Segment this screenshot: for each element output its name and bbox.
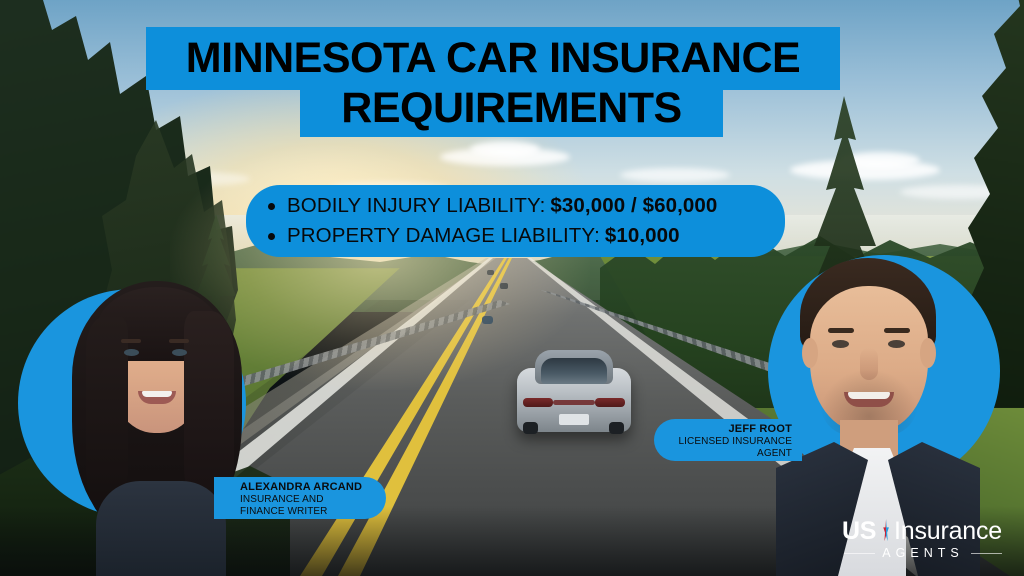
logo-us-text: US (842, 517, 876, 546)
car-license-plate (559, 414, 589, 425)
bullet-value: $30,000 / $60,000 (550, 191, 717, 221)
person-role-line-2: AGENT (674, 448, 792, 460)
eyebrow-left (828, 328, 854, 333)
distant-car (487, 270, 494, 275)
eye-right (888, 340, 905, 348)
person-name: JEFF ROOT (674, 423, 792, 436)
brand-logo: US Insurance AGENTS (842, 517, 1002, 563)
eyebrow-right (169, 339, 189, 343)
logo-agents-text: AGENTS (882, 546, 963, 560)
bullet-dot-icon (268, 203, 275, 210)
car-wheel-left (523, 422, 538, 434)
bullet-value: $10,000 (605, 221, 680, 251)
ear-right (920, 338, 936, 368)
bullet-label: BODILY INJURY LIABILITY: (287, 191, 545, 221)
person-role-line-1: INSURANCE AND (240, 494, 372, 506)
star-icon (883, 519, 889, 543)
list-item: BODILY INJURY LIABILITY: $30,000 / $60,0… (246, 191, 785, 221)
logo-subline: AGENTS (842, 546, 1002, 560)
infographic-banner: MINNESOTA CAR INSURANCE REQUIREMENTS BOD… (0, 0, 1024, 576)
name-tag-jeff: JEFF ROOT LICENSED INSURANCE AGENT (654, 419, 802, 461)
avatar-alexandra-arcand (62, 269, 252, 576)
person-name: ALEXANDRA ARCAND (240, 481, 372, 494)
eye-left (832, 340, 849, 348)
eyebrow-left (121, 339, 141, 343)
eye-left (124, 349, 139, 356)
distant-car (482, 316, 493, 324)
name-tag-alexandra: ALEXANDRA ARCAND INSURANCE AND FINANCE W… (214, 477, 386, 519)
logo-rule-left (844, 553, 875, 554)
car-rear-window (541, 358, 607, 384)
ear-left (802, 338, 818, 368)
eye-right (172, 349, 187, 356)
car-wheel-right (609, 422, 624, 434)
shirt (96, 481, 226, 576)
car-taillight-right (595, 398, 625, 407)
list-item: PROPERTY DAMAGE LIABILITY: $10,000 (246, 221, 785, 251)
bullet-label: PROPERTY DAMAGE LIABILITY: (287, 221, 600, 251)
logo-wordmark: US Insurance (842, 517, 1002, 545)
star-right-half (883, 519, 889, 543)
requirements-list: BODILY INJURY LIABILITY: $30,000 / $60,0… (246, 185, 785, 257)
cloud (470, 141, 540, 157)
silver-sedan (513, 350, 635, 436)
bullet-dot-icon (268, 233, 275, 240)
title-line-2: REQUIREMENTS (300, 79, 723, 137)
teeth (142, 391, 172, 397)
person-role-line-2: FINANCE WRITER (240, 506, 372, 518)
eyebrow-right (884, 328, 910, 333)
distant-car (500, 283, 508, 289)
logo-rule-right (971, 553, 1002, 554)
person-role-line-1: LICENSED INSURANCE (674, 436, 792, 448)
logo-insurance-text: Insurance (894, 517, 1002, 546)
cloud (620, 168, 730, 182)
car-lightbar (553, 400, 595, 405)
teeth (848, 392, 890, 399)
car-taillight-left (523, 398, 553, 407)
